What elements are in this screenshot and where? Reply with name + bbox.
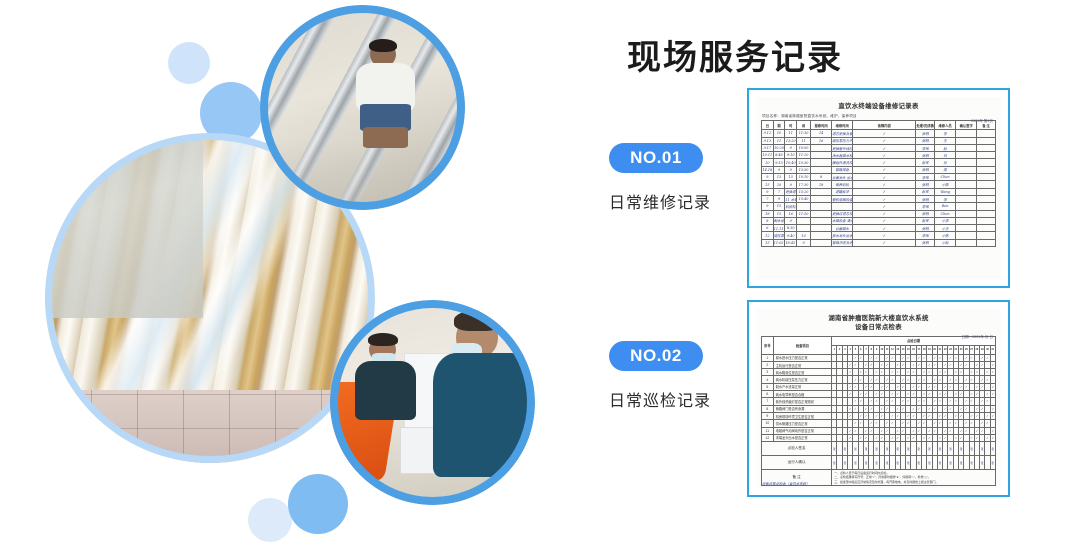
table-cell: 膜组件清洗及冲洗 (832, 159, 853, 166)
table-cell (956, 203, 977, 210)
table-cell: 周 (935, 166, 956, 173)
table-cell: 更换滤料 (785, 188, 797, 195)
table-cell: 13:20 (785, 137, 797, 144)
checklist-item-label: 电磁阀气动阀动作是否正常 (773, 427, 832, 434)
table-cell: ✓ (853, 159, 916, 166)
document-subtitle: 项目名称：湖南省肿瘤医院直饮水系统、维护、保养项目 (756, 111, 1001, 120)
table-cell: 9:10 (785, 152, 797, 159)
table-cell: 张明 (916, 152, 935, 159)
table-row: 97更换滤料15:20滤罐反冲✓赵军Wang (762, 188, 996, 195)
table-cell (977, 188, 996, 195)
technician-back-shirt (355, 361, 417, 420)
table-col-header: 处理/完成情况 (916, 121, 935, 130)
table-cell (956, 210, 977, 217)
table-cell: ✓ (853, 152, 916, 159)
table-cell (797, 225, 811, 232)
table-col-header: 间 (797, 121, 811, 130)
photo-technician-pipes (260, 5, 465, 210)
table-body: 1原水进水压力是否正常✓✓✓✓✓✓✓✓✓✓✓✓✓✓✓✓✓✓2主机运行是否正常✓✓… (762, 354, 996, 486)
table-cell (956, 225, 977, 232)
signature-row: 运行人确认张张张张张张张张张张张张张张张张 (762, 456, 996, 470)
checklist-row: 3纯水箱液位是否正常✓✓✓✓✓✓✓✓✓✓✓✓✓✓✓✓✓✓✓ (762, 369, 996, 376)
row-number: 5 (762, 383, 774, 390)
table-row: 10.118:409:1011:20净水器漏水检修✓张明刘 (762, 152, 996, 159)
signature-row: 点检人签名张张张张张张张张张张张张张张张张 (762, 442, 996, 456)
page-title: 现场服务记录 (627, 30, 843, 79)
table-cell: 8 (762, 217, 774, 224)
checklist-mark-cell: ✓ (990, 369, 995, 376)
checklist-mark-cell: ✓ (990, 434, 995, 441)
table-cell (811, 239, 832, 246)
table-cell (977, 203, 996, 210)
table-row: 611.11 台面 88:30台面漏水✓张明小王 (762, 225, 996, 232)
maintenance-table: 日期时间报修时间维修时间故障内容处理/完成情况维修人员确认签字备 注 9.121… (761, 120, 996, 247)
table-cell: 10 (773, 130, 785, 137)
checklist-item-label: 机房现场环境卫生是否正常 (773, 412, 832, 419)
table-cell: 李伟 (916, 174, 935, 181)
table-cell (811, 159, 832, 166)
table-cell: 11 (773, 137, 785, 144)
table-cell (811, 232, 832, 239)
table-cell: 11:30 (797, 130, 811, 137)
table-cell (977, 181, 996, 188)
table-cell (977, 195, 996, 202)
table-col-header: 日 (762, 121, 774, 130)
table-cell: 李 (935, 195, 956, 202)
checklist-item-label: 原水进水压力是否正常 (773, 354, 832, 361)
row-number: 8 (762, 405, 774, 412)
table-cell (977, 152, 996, 159)
table-cell (956, 232, 977, 239)
table-row: 8制水设备维护保养9水路检查 清洗✓赵军小李 (762, 217, 996, 224)
table-cell: ✓ (853, 210, 916, 217)
table-col-header: 期 (773, 121, 785, 130)
notes-cell: 一、点检人员于每日设备运行时间内点检。二、点检结果填写符号：正常"√"，异常即时… (832, 470, 996, 486)
table-body: 9.12101111:3014滤芯更换及紧固接头漏水处理✓张明李9.131113… (762, 130, 996, 247)
table-cell: Chen (935, 210, 956, 217)
technician-front (437, 316, 527, 492)
checklist-row: 2主机运行是否正常✓✓✓✓✓✓✓✓✓✓✓✓✓✓✓✓✓✓✓ (762, 361, 996, 368)
table-cell: 15 (785, 174, 797, 181)
table-cell: ✓ (853, 225, 916, 232)
table-cell: 15 (762, 239, 774, 246)
table-header: 序号检查项目点检日期123456789101112131415161718192… (762, 336, 996, 354)
checklist-mark-cell (990, 398, 995, 405)
table-cell: ✓ (853, 195, 916, 202)
table-col-header: 报修时间 (811, 121, 832, 130)
table-cell: 16 (811, 137, 832, 144)
row-number: 7 (762, 398, 774, 405)
document-panel-maintenance-log[interactable]: 直饮水终端设备维修记录表 项目名称：湖南省肿瘤医院直饮水系统、维护、保养项目 2… (747, 88, 1010, 288)
table-cell: 李伟 (916, 232, 935, 239)
table-cell: 机房检查及消毒 (785, 203, 797, 210)
table-cell: 水路检查 清洗 (832, 217, 853, 224)
table-cell (977, 174, 996, 181)
table-cell (977, 239, 996, 246)
table-cell: 9 (785, 166, 797, 173)
decorative-dot-large-bottom (288, 474, 348, 534)
checklist-item-label: 供水管路压力是否正常 (773, 420, 832, 427)
record-caption-no02: 日常巡检记录 (609, 387, 711, 411)
table-col-header: 检查项目 (773, 336, 832, 354)
table-cell (977, 130, 996, 137)
table-cell: 9 (762, 203, 774, 210)
table-cell: 7 (762, 195, 774, 202)
table-cell: 9 (797, 239, 811, 246)
table-cell: 15 (762, 181, 774, 188)
photo-circle-technician-pipes (260, 5, 465, 210)
document-sheet-maintenance: 直饮水终端设备维修记录表 项目名称：湖南省肿瘤医院直饮水系统、维护、保养项目 2… (756, 97, 1001, 279)
row-number: 3 (762, 369, 774, 376)
table-cell: ✓ (853, 217, 916, 224)
table-header-row: 序号检查项目点检日期 (762, 336, 996, 345)
checklist-mark-cell: ✓ (990, 391, 995, 398)
table-cell: Wang (935, 188, 956, 195)
checklist-row: 10供水管路压力是否正常✓✓✓✓✓✓✓✓✓✓✓✓✓✓✓✓✓✓ (762, 420, 996, 427)
table-cell: 管路冲洗及消毒 (832, 239, 853, 246)
table-cell: 8:40 (773, 152, 785, 159)
checklist-item-label: 主机运行是否正常 (773, 361, 832, 368)
table-row: 18151611:50更换过滤芯及冲洗✓张明Chen (762, 210, 996, 217)
table-row: 9.12101111:3014滤芯更换及紧固接头漏水处理✓张明李 (762, 130, 996, 137)
signature-cell: 张 (990, 456, 995, 470)
table-cell: 更换紫外线灯管并测试 (832, 144, 853, 151)
table-cell (977, 225, 996, 232)
checklist-mark-cell: ✓ (990, 427, 995, 434)
table-cell (956, 152, 977, 159)
table-cell (811, 210, 832, 217)
table-cell: 净水器漏水检修 (832, 152, 853, 159)
table-cell: ✓ (853, 232, 916, 239)
table-cell: ✓ (853, 239, 916, 246)
table-cell: 11.11 台面 8 (773, 225, 785, 232)
table-cell: 11:20 (797, 152, 811, 159)
table-cell: ✓ (853, 188, 916, 195)
table-cell: 张明 (916, 225, 935, 232)
inspection-table: 序号检查项目点检日期123456789101112131415161718192… (761, 336, 996, 487)
table-cell: 小陈 (935, 181, 956, 188)
table-cell: ✓ (853, 181, 916, 188)
row-number: 9 (762, 412, 774, 419)
table-row: 9131510:108台面龙头 出水异常✓李伟Chen (762, 174, 996, 181)
table-cell: 13 (773, 174, 785, 181)
day-col-header: 31 (990, 345, 995, 354)
table-cell (977, 137, 996, 144)
checklist-item-label: 管路阀门是否有渗漏 (773, 405, 832, 412)
checklist-item-label: 纯水电导率是否合格 (773, 391, 832, 398)
table-cell: 9 (762, 174, 774, 181)
table-cell (956, 130, 977, 137)
table-cell: ✓ (853, 130, 916, 137)
table-cell: 小赵 (935, 239, 956, 246)
table-cell: 14 (811, 130, 832, 137)
table-cell: 增压泵压力不足调整校正 (832, 137, 853, 144)
table-cell (956, 137, 977, 144)
table-cell: 13:50 (797, 166, 811, 173)
table-row: 1511:05 水箱18:45 消毒9管路冲洗及消毒✓张明小赵 (762, 239, 996, 246)
table-cell (797, 203, 811, 210)
table-cell: 9 (785, 144, 797, 151)
table-cell (956, 144, 977, 151)
table-cell: 赵军 (916, 188, 935, 195)
table-row: 9.1710:20910:00更换紫外线灯管并测试✓李伟赵 (762, 144, 996, 151)
row-number: 10 (762, 420, 774, 427)
table-cell: Chen (935, 174, 956, 181)
table-cell: ✓ (853, 174, 916, 181)
table-cell: 张明 (916, 195, 935, 202)
row-number: 1 (762, 354, 774, 361)
checklist-mark-cell: ✓ (990, 361, 995, 368)
table-cell (811, 188, 832, 195)
table-row: 109:1510:4010:30膜组件清洗及冲洗✓赵军孙 (762, 159, 996, 166)
table-cell (956, 174, 977, 181)
table-cell: 张明 (916, 166, 935, 173)
checklist-row: 7紫外线杀菌灯是否正常照射✓✓✓✓✓✓✓✓✓✓✓✓✓✓✓✓✓✓ (762, 398, 996, 405)
table-cell: 12 (762, 232, 774, 239)
table-cell: 10.11 (762, 152, 774, 159)
table-cell: 20 (773, 181, 785, 188)
table-row: 915机房检查及消毒✓李伟Ren (762, 203, 996, 210)
row-number: 4 (762, 376, 774, 383)
record-badge-no02[interactable]: NO.02 (609, 341, 703, 371)
table-cell: 小王 (935, 225, 956, 232)
table-cell: 保养巡检 (832, 181, 853, 188)
table-cell (832, 203, 853, 210)
table-cell: ✓ (853, 166, 916, 173)
signature-label: 点检人签名 (762, 442, 832, 456)
table-cell: 9 (773, 166, 785, 173)
table-cell: 9 (762, 188, 774, 195)
checklist-item-label: 紫外线杀菌灯是否正常照射 (773, 398, 832, 405)
table-cell: 李伟 (916, 144, 935, 151)
table-cell (977, 232, 996, 239)
table-cell: ✓ (853, 137, 916, 144)
table-col-header: 维修时间 (832, 121, 853, 130)
table-cell: 小陈 (935, 232, 956, 239)
checklist-row: 12末端龙头出水是否正常✓✓✓✓✓✓✓✓✓✓✓✓✓✓✓✓✓✓✓ (762, 434, 996, 441)
checklist-row: 8管路阀门是否有渗漏✓✓✓✓✓✓✓✓✓✓✓✓✓✓✓✓✓✓✓ (762, 405, 996, 412)
table-cell: 17:30 (797, 181, 811, 188)
table-cell: 张明 (916, 137, 935, 144)
table-cell: 整机电路检查及调试 (832, 195, 853, 202)
table-row: 1520917:3018保养巡检✓张明小陈 (762, 181, 996, 188)
table-cell: 18 (762, 210, 774, 217)
table-cell: 更换过滤芯及冲洗 (832, 210, 853, 217)
checklist-mark-cell: ✓ (990, 405, 995, 412)
table-cell: 滤罐反冲 (832, 188, 853, 195)
checklist-item-label: 纯水箱液位是否正常 (773, 369, 832, 376)
checklist-row: 4纯水机增压泵压力正常✓✓✓✓✓✓✓✓✓✓✓✓✓✓✓✓✓✓ (762, 376, 996, 383)
document-title: 直饮水终端设备维修记录表 (756, 97, 1001, 111)
table-cell: 制水设备维护保养 (773, 217, 785, 224)
technician-front-shirt (433, 353, 530, 476)
table-cell: 10:00 (797, 144, 811, 151)
checklist-item-label: 末端龙头出水是否正常 (773, 434, 832, 441)
checklist-mark-cell (990, 420, 995, 427)
table-cell: 赵 (935, 144, 956, 151)
table-row: 12增压泵 209:4010放水龙头出水量偏小✓李伟小陈 (762, 232, 996, 239)
checklist-mark-cell: ✓ (990, 383, 995, 390)
table-cell: 赵军 (916, 217, 935, 224)
table-cell (956, 159, 977, 166)
table-cell: ✓ (853, 203, 916, 210)
table-cell: 王 (935, 137, 956, 144)
table-cell: 11 (797, 137, 811, 144)
decorative-dot-small-bottom (248, 498, 292, 542)
table-cell: 放水龙头出水量偏小 (832, 232, 853, 239)
document-date-note: 2021年 第1页 (971, 119, 993, 124)
table-cell: 11:05 水箱 (773, 239, 785, 246)
table-cell: 10:40 (785, 159, 797, 166)
table-cell (811, 225, 832, 232)
checklist-mark-cell (990, 376, 995, 383)
table-cell: 15:20 (797, 188, 811, 195)
table-cell: 18:45 消毒 (785, 239, 797, 246)
table-cell (811, 144, 832, 151)
table-cell: 台面漏水 (832, 225, 853, 232)
row-number: 11 (762, 427, 774, 434)
document-footer: 设备日常点检表（直饮水系统） (762, 481, 809, 486)
checklist-row: 5制水产水流量正常✓✓✓✓✓✓✓✓✓✓✓✓✓✓✓✓✓✓✓ (762, 383, 996, 390)
signature-cell: 张 (990, 442, 995, 456)
table-col-header: 维修人员 (935, 121, 956, 130)
record-badge-no01[interactable]: NO.01 (609, 143, 703, 173)
floor-shadow (260, 140, 465, 210)
signature-label: 运行人确认 (762, 456, 832, 470)
table-cell: ✓ (853, 144, 916, 151)
table-cell (977, 144, 996, 151)
table-cell (977, 217, 996, 224)
row-number: 12 (762, 434, 774, 441)
record-caption-no01: 日常维修记录 (609, 189, 711, 213)
photo-technicians-equipment (330, 300, 535, 505)
table-cell: 10:30 (797, 159, 811, 166)
document-panel-inspection-log[interactable]: 湖南省肿瘤医院新大楼直饮水系统 设备日常点检表 日期：2021年 月 日 序号检… (747, 300, 1010, 497)
table-cell: 9 (785, 181, 797, 188)
table-cell: 8:30 (785, 225, 797, 232)
checklist-mark-cell: ✓ (990, 412, 995, 419)
table-cell: 11 (785, 130, 797, 137)
table-cell (956, 181, 977, 188)
table-cell: 9 (773, 195, 785, 202)
person-figure (354, 42, 416, 149)
decorative-dot-small-top (168, 42, 210, 84)
table-cell: 张明 (916, 210, 935, 217)
table-cell: 增压泵 20 (773, 232, 785, 239)
table-cell (811, 217, 832, 224)
technician-back (355, 337, 417, 435)
table-cell (811, 195, 832, 202)
table-cell (956, 239, 977, 246)
table-cell (956, 195, 977, 202)
table-cell: 台面龙头 出水异常 (832, 174, 853, 181)
table-cell (797, 217, 811, 224)
table-row: 14.189913:50管路排查✓张明周 (762, 166, 996, 173)
table-cell (956, 188, 977, 195)
checklist-row: 9机房现场环境卫生是否正常✓✓✓✓✓✓✓✓✓✓✓✓✓✓✓✓✓✓✓ (762, 412, 996, 419)
table-cell (977, 210, 996, 217)
table-cell: 孙 (935, 159, 956, 166)
checklist-row: 6纯水电导率是否合格✓✓✓✓✓✓✓✓✓✓✓✓✓✓✓✓✓✓✓ (762, 391, 996, 398)
table-cell (956, 217, 977, 224)
table-cell: 14.18 (762, 166, 774, 173)
table-cell: 9.12 (762, 130, 774, 137)
document-title-line1: 湖南省肿瘤医院新大楼直饮水系统 (756, 309, 1001, 323)
table-cell: 15:40 (797, 195, 811, 202)
table-cell: Ren (935, 203, 956, 210)
table-cell: 张明 (916, 181, 935, 188)
table-col-header: 序号 (762, 336, 774, 354)
table-row: 9.131113:201116增压泵压力不足调整校正✓张明王 (762, 137, 996, 144)
table-cell: 18 (811, 181, 832, 188)
table-cell: 9.13 (762, 137, 774, 144)
table-cell: 15 (773, 203, 785, 210)
table-cell: 10 (762, 159, 774, 166)
table-cell: 8 (811, 174, 832, 181)
table-cell (956, 166, 977, 173)
table-cell: 10:20 (773, 144, 785, 151)
table-cell: 11 水箱清洗 (785, 195, 797, 202)
table-cell: 9:15 (773, 159, 785, 166)
table-cell: 赵军 (916, 159, 935, 166)
slide-canvas: 现场服务记录 NO.01 日常维修记录 直饮水终端设备维修记录表 项目名称：湖南… (0, 0, 1080, 549)
checklist-mark-cell (990, 354, 995, 361)
checklist-item-label: 纯水机增压泵压力正常 (773, 376, 832, 383)
table-cell: 10:10 (797, 174, 811, 181)
document-date-note: 日期：2021年 月 日 (961, 335, 993, 340)
table-cell: 管路排查 (832, 166, 853, 173)
table-cell: 9.17 (762, 144, 774, 151)
table-cell: 小李 (935, 217, 956, 224)
table-cell: 李伟 (916, 203, 935, 210)
table-cell: 6 (762, 225, 774, 232)
table-cell (977, 159, 996, 166)
photo-circle-technicians-equipment (330, 300, 535, 505)
table-cell: 10 (797, 232, 811, 239)
table-cell: 15 (773, 210, 785, 217)
table-col-header: 时 (785, 121, 797, 130)
table-cell: 滤芯更换及紧固接头漏水处理 (832, 130, 853, 137)
checklist-item-label: 制水产水流量正常 (773, 383, 832, 390)
table-header-row: 日期时间报修时间维修时间故障内容处理/完成情况维修人员确认签字备 注 (762, 121, 996, 130)
table-cell (811, 203, 832, 210)
checklist-row: 1原水进水压力是否正常✓✓✓✓✓✓✓✓✓✓✓✓✓✓✓✓✓✓ (762, 354, 996, 361)
document-sheet-inspection: 湖南省肿瘤医院新大楼直饮水系统 设备日常点检表 日期：2021年 月 日 序号检… (756, 309, 1001, 488)
table-cell: 7 (773, 188, 785, 195)
table-cell: 张明 (916, 239, 935, 246)
table-cell (811, 152, 832, 159)
row-number: 2 (762, 361, 774, 368)
document-title-line2: 设备日常点检表 (756, 323, 1001, 332)
table-cell: 16 (785, 210, 797, 217)
row-number: 6 (762, 391, 774, 398)
table-cell: 张明 (916, 130, 935, 137)
table-cell (811, 166, 832, 173)
table-cell: 9 (785, 217, 797, 224)
table-cell: 9:40 (785, 232, 797, 239)
table-cell: 11:50 (797, 210, 811, 217)
table-cell (977, 166, 996, 173)
checklist-row: 11电磁阀气动阀动作是否正常✓✓✓✓✓✓✓✓✓✓✓✓✓✓✓✓✓✓✓ (762, 427, 996, 434)
table-row: 7911 水箱清洗15:40整机电路检查及调试✓张明李 (762, 195, 996, 202)
table-cell: 李 (935, 130, 956, 137)
table-col-header: 故障内容 (853, 121, 916, 130)
table-cell: 刘 (935, 152, 956, 159)
